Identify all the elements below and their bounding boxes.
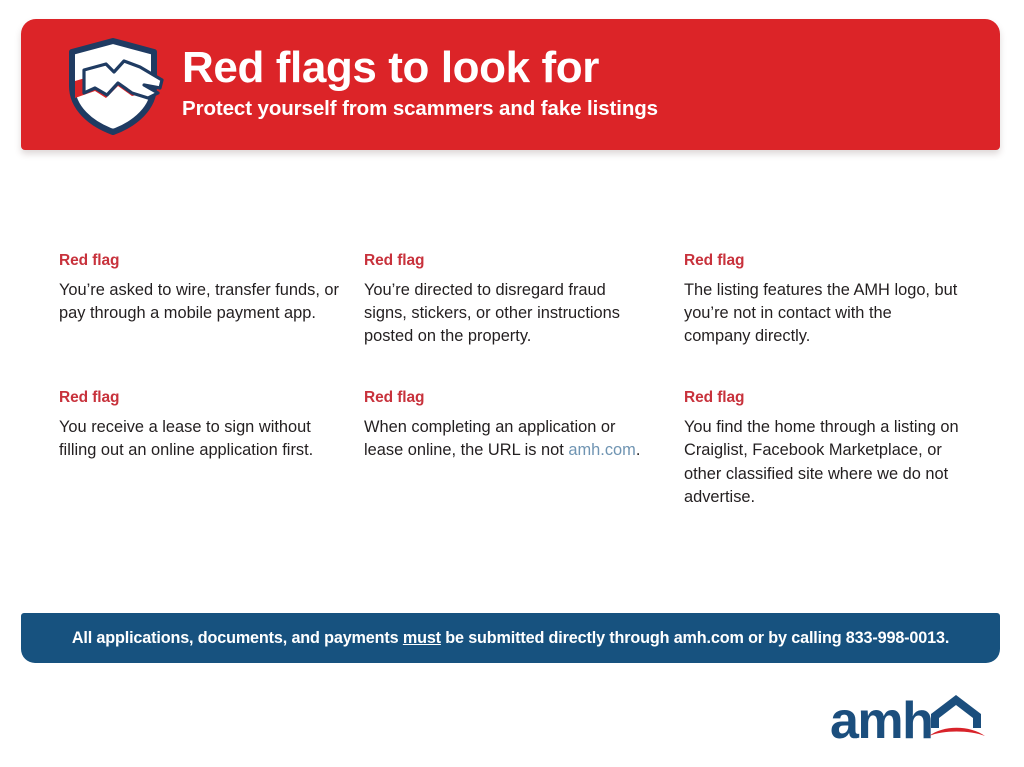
red-flag-card: Red flag You find the home through a lis… [684, 389, 969, 509]
red-flag-text: The listing features the AMH logo, but y… [684, 279, 959, 349]
footer-banner: All applications, documents, and payment… [21, 613, 1000, 663]
red-flag-card: Red flag You’re asked to wire, transfer … [59, 252, 364, 348]
red-flag-label: Red flag [59, 389, 364, 408]
footer-text-part-2: be submitted directly through amh.com or… [441, 629, 949, 647]
header-banner: Red flags to look for Protect yourself f… [21, 19, 1000, 150]
red-flag-text: You’re asked to wire, transfer funds, or… [59, 279, 339, 326]
red-flag-card: Red flag When completing an application … [364, 389, 684, 509]
red-flag-text: You find the home through a listing on C… [684, 416, 959, 509]
red-flag-label: Red flag [364, 389, 684, 408]
amh-com-link[interactable]: amh.com [568, 441, 635, 459]
header-text-block: Red flags to look for Protect yourself f… [182, 46, 658, 122]
red-flag-label: Red flag [684, 252, 969, 271]
red-flag-card: Red flag You’re directed to disregard fr… [364, 252, 684, 348]
red-flag-label: Red flag [59, 252, 364, 271]
red-flag-text: You’re directed to disregard fraud signs… [364, 279, 652, 349]
red-flags-grid: Red flag You’re asked to wire, transfer … [59, 252, 969, 509]
shield-with-flag-icon [62, 36, 166, 136]
footer-text-part-1: All applications, documents, and payment… [72, 629, 403, 647]
amh-wordmark: amh [830, 692, 932, 748]
page-subtitle: Protect yourself from scammers and fake … [182, 97, 658, 121]
footer-notice: All applications, documents, and payment… [72, 629, 949, 648]
red-flag-card: Red flag The listing features the AMH lo… [684, 252, 969, 348]
amh-logo: amh [830, 692, 995, 748]
red-flag-text-after-link: . [636, 441, 641, 459]
page-title: Red flags to look for [182, 46, 658, 91]
footer-emphasis-must: must [403, 629, 441, 647]
red-flag-text: When completing an application or lease … [364, 416, 652, 463]
red-flag-label: Red flag [684, 389, 969, 408]
red-flag-text: You receive a lease to sign without fill… [59, 416, 339, 463]
red-flag-card: Red flag You receive a lease to sign wit… [59, 389, 364, 509]
red-flag-label: Red flag [364, 252, 684, 271]
